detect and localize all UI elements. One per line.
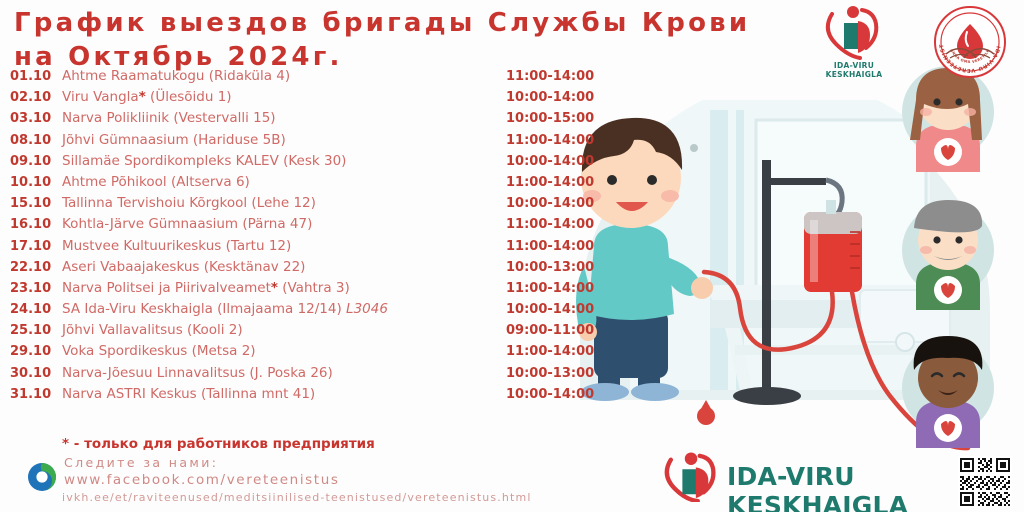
row-place: Ahtme Põhikool (Altserva 6)	[62, 174, 506, 190]
table-row: 17.10 Mustvee Kultuurikeskus (Tartu 12) …	[10, 238, 610, 259]
row-time: 11:00-14:00	[506, 239, 610, 254]
table-row: 09.10 Sillamäe Spordikompleks KALEV (Kes…	[10, 153, 610, 174]
table-row: 23.10 Narva Politsei ja Piirivalveamet* …	[10, 280, 610, 301]
footnote-text: * - только для работников предприятия	[62, 436, 375, 452]
hospital-mark-icon	[663, 452, 721, 502]
row-place: Jõhvi Vallavalitsus (Kooli 2)	[62, 322, 506, 338]
row-time: 11:00-14:00	[506, 69, 610, 84]
row-time: 10:00-14:00	[506, 302, 610, 317]
vereteenistus-seal-logo: SA IDA-VIRU VERETEENISTUS ANNA OMA VERET…	[934, 6, 1006, 78]
row-date: 17.10	[10, 239, 62, 254]
table-row: 08.10 Jõhvi Gümnaasium (Hariduse 5B) 11:…	[10, 132, 610, 153]
table-row: 01.10 Ahtme Raamatukogu (Ridaküla 4) 11:…	[10, 68, 610, 89]
table-row: 25.10 Jõhvi Vallavalitsus (Kooli 2) 09:0…	[10, 322, 610, 343]
blood-donation-illustration	[560, 60, 1024, 460]
row-time: 10:00-13:00	[506, 366, 610, 381]
follow-label: Следите за нами:	[64, 455, 218, 470]
social-swirl-icon[interactable]	[27, 462, 57, 492]
row-place: SA Ida-Viru Keskhaigla (Ilmajaama 12/14)…	[62, 301, 506, 317]
poster-canvas: График выездов бригады Службы Крови на О…	[0, 0, 1024, 512]
row-place: Aseri Vabaajakeskus (Kesktänav 22)	[62, 259, 506, 275]
qr-code[interactable]	[958, 456, 1012, 508]
row-place: Ahtme Raamatukogu (Ridaküla 4)	[62, 68, 506, 84]
row-place: Jõhvi Gümnaasium (Hariduse 5B)	[62, 132, 506, 148]
row-place: Kohtla-Järve Gümnaasium (Pärna 47)	[62, 216, 506, 232]
row-date: 08.10	[10, 133, 62, 148]
row-date: 25.10	[10, 323, 62, 338]
row-place: Viru Vangla* (Ülesõidu 1)	[62, 89, 506, 105]
table-row: 22.10 Aseri Vabaajakeskus (Kesktänav 22)…	[10, 259, 610, 280]
table-row: 16.10 Kohtla-Järve Gümnaasium (Pärna 47)…	[10, 216, 610, 237]
table-row: 03.10 Narva Polikliinik (Vestervalli 15)…	[10, 110, 610, 131]
hospital-logo-top-name: IDA-VIRU KESKHAIGLA	[806, 61, 902, 79]
table-row: 31.10 Narva ASTRI Keskus (Tallinna mnt 4…	[10, 386, 610, 407]
row-date: 23.10	[10, 281, 62, 296]
recipient-child	[902, 336, 994, 448]
row-time: 10:00-14:00	[506, 196, 610, 211]
row-date: 31.10	[10, 387, 62, 402]
row-place: Sillamäe Spordikompleks KALEV (Kesk 30)	[62, 153, 506, 169]
row-date: 15.10	[10, 196, 62, 211]
row-date: 22.10	[10, 260, 62, 275]
row-date: 24.10	[10, 302, 62, 317]
row-date: 01.10	[10, 69, 62, 84]
table-row: 24.10 SA Ida-Viru Keskhaigla (Ilmajaama …	[10, 301, 610, 322]
row-time: 09:00-11:00	[506, 323, 610, 338]
row-time: 10:00-14:00	[506, 90, 610, 105]
row-place: Narva-Jõesuu Linnavalitsus (J. Poska 26)	[62, 365, 506, 381]
blood-bag	[804, 200, 862, 292]
row-place: Voka Spordikeskus (Metsa 2)	[62, 343, 506, 359]
row-place: Tallinna Tervishoiu Kõrgkool (Lehe 12)	[62, 195, 506, 211]
row-time: 11:00-14:00	[506, 175, 610, 190]
row-time: 10:00-14:00	[506, 154, 610, 169]
row-place: Narva ASTRI Keskus (Tallinna mnt 41)	[62, 386, 506, 402]
row-place: Narva Polikliinik (Vestervalli 15)	[62, 110, 506, 126]
hospital-logo-bottom: IDA-VIRU KESKHAIGLA	[663, 452, 953, 502]
schedule-list: 01.10 Ahtme Raamatukogu (Ridaküla 4) 11:…	[10, 68, 610, 407]
table-row: 30.10 Narva-Jõesuu Linnavalitsus (J. Pos…	[10, 365, 610, 386]
table-row: 29.10 Voka Spordikeskus (Metsa 2) 11:00-…	[10, 343, 610, 364]
row-date: 09.10	[10, 154, 62, 169]
row-date: 03.10	[10, 111, 62, 126]
row-date: 16.10	[10, 217, 62, 232]
facebook-link[interactable]: www.facebook.com/vereteenistus	[64, 472, 340, 488]
row-time: 11:00-14:00	[506, 133, 610, 148]
table-row: 10.10 Ahtme Põhikool (Altserva 6) 11:00-…	[10, 174, 610, 195]
row-time: 10:00-13:00	[506, 260, 610, 275]
row-date: 29.10	[10, 344, 62, 359]
row-date: 02.10	[10, 90, 62, 105]
row-date: 10.10	[10, 175, 62, 190]
hospital-logo-top: IDA-VIRU KESKHAIGLA	[806, 4, 902, 82]
table-row: 02.10 Viru Vangla* (Ülesõidu 1) 10:00-14…	[10, 89, 610, 110]
row-time: 11:00-14:00	[506, 217, 610, 232]
table-row: 15.10 Tallinna Tervishoiu Kõrgkool (Lehe…	[10, 195, 610, 216]
row-time: 10:00-14:00	[506, 387, 610, 402]
hospital-logo-bottom-name: IDA-VIRU KESKHAIGLA	[727, 462, 953, 512]
blood-drop	[697, 400, 715, 425]
row-time: 11:00-14:00	[506, 344, 610, 359]
row-date: 30.10	[10, 366, 62, 381]
row-time: 10:00-15:00	[506, 111, 610, 126]
row-time: 11:00-14:00	[506, 281, 610, 296]
page-title: График выездов бригады Службы Крови на О…	[14, 6, 824, 74]
hospital-mark-icon	[824, 4, 884, 60]
row-place: Narva Politsei ja Piirivalveamet* (Vahtr…	[62, 280, 506, 296]
row-place: Mustvee Kultuurikeskus (Tartu 12)	[62, 238, 506, 254]
website-link[interactable]: ivkh.ee/et/raviteenused/meditsiinilised-…	[62, 491, 532, 504]
